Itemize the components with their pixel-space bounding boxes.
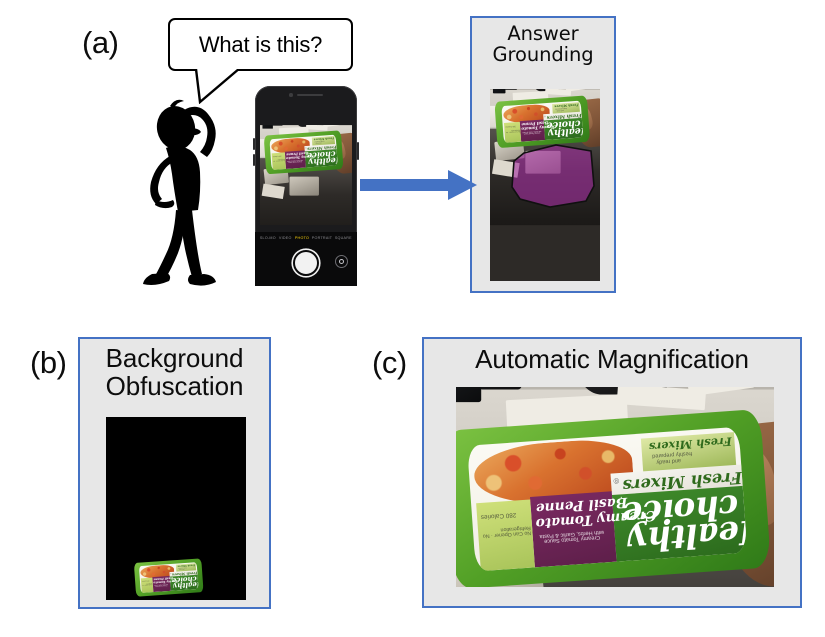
camera-viewfinder[interactable]: choiceHealthy.Fresh Mixers®Basil PenneCr… — [260, 125, 352, 225]
automatic-magnification-photo: choiceHealthy.Fresh Mixers®Basil PenneCr… — [456, 387, 774, 587]
panel-background-obfuscation-title-line2: Obfuscation — [80, 372, 269, 400]
side-panel-lime: 280 CaloriesNo Can Opener · No Refrigera… — [504, 122, 521, 143]
camera-mode-slo-mo[interactable]: SLO-MO — [260, 236, 276, 240]
background-obfuscation-scene: choiceHealthy.Fresh Mixers®Basil PenneCr… — [106, 417, 246, 600]
no-refrigeration-text: No Can Opener · No Refrigeration — [142, 583, 153, 586]
phone-earpiece-area — [255, 86, 357, 104]
healthy-choice-fresh-mixers-package: choiceHealthy.Fresh Mixers®Basil PenneCr… — [494, 95, 590, 148]
calories-text: 280 Calories — [273, 155, 282, 157]
camera-mode-photo[interactable]: PHOTO — [295, 236, 309, 240]
flavor-label-purple: Basil PenneCreamy TomatoCreamy Tomato Sa… — [520, 119, 545, 141]
flavor-label-purple: Basil PenneCreamy TomatoCreamy Tomato Sa… — [152, 576, 170, 592]
healthy-choice-fresh-mixers-package: choiceHealthy.Fresh Mixers®Basil PenneCr… — [264, 130, 344, 174]
no-refrigeration-text: No Can Opener · No Refrigeration — [480, 524, 531, 538]
flavor-label-purple: Basil PenneCreamy TomatoCreamy Tomato Sa… — [285, 150, 306, 169]
healthy-choice-fresh-mixers-package: choiceHealthy.Fresh Mixers®Basil PenneCr… — [134, 558, 204, 596]
automatic-magnification-scene: choiceHealthy.Fresh Mixers®Basil PenneCr… — [456, 387, 774, 587]
smartphone-camera-mockup[interactable]: choiceHealthy.Fresh Mixers®Basil PenneCr… — [255, 86, 357, 286]
confused-person-silhouette — [118, 88, 253, 293]
camera-mode-portrait[interactable]: PORTRAIT — [312, 236, 333, 240]
flip-camera-button[interactable] — [335, 255, 348, 268]
sub-brand-registered-mark: ® — [170, 572, 171, 574]
lid-sub-brand-text: Fresh Mixers — [649, 434, 732, 451]
claim-text-and-ready: and ready — [656, 458, 681, 465]
flavor-description-text: Creamy Tomato Sauce with Herbs, Garlic &… — [154, 584, 168, 587]
answer-grounding-scene: choiceHealthy.Fresh Mixers®Basil PenneCr… — [490, 89, 600, 281]
answer-grounding-photo: choiceHealthy.Fresh Mixers®Basil PenneCr… — [490, 89, 600, 281]
panel-automatic-magnification-title: Automatic Magnification — [424, 345, 800, 373]
lid-claim-area: Fresh Mixersfreshly preparedand ready — [641, 432, 736, 471]
camera-mode-video[interactable]: VIDEO — [279, 236, 292, 240]
package-tray: choiceHealthy.Fresh Mixers®Basil PenneCr… — [467, 426, 748, 572]
panel-answer-grounding-title-line2: Grounding — [472, 44, 614, 65]
shutter-button[interactable] — [293, 250, 319, 276]
desktop-speaker — [272, 125, 282, 126]
desktop-speaker — [479, 387, 522, 390]
panel-automatic-magnification: Automatic Magnification choiceHealthy.Fr… — [422, 337, 802, 608]
lid-claim-area: Fresh Mixersfreshly preparedand ready — [176, 563, 196, 571]
side-panel-lime: 280 CaloriesNo Can Opener · No Refrigera… — [141, 578, 154, 593]
figure-label-b: (b) — [30, 345, 66, 381]
calories-text: 280 Calories — [142, 580, 150, 582]
no-refrigeration-text: No Can Opener · No Refrigeration — [273, 158, 285, 161]
claim-text-and-ready: and ready — [556, 110, 563, 112]
side-panel-lime: 280 CaloriesNo Can Opener · No Refrigera… — [476, 499, 535, 571]
lid-claim-area: Fresh Mixersfreshly preparedand ready — [552, 102, 580, 114]
claim-text-and-ready: and ready — [179, 569, 184, 571]
speech-bubble-tail — [178, 66, 248, 104]
figure-canvas: (a) What is this? — [0, 0, 825, 637]
sub-brand-registered-mark: ® — [544, 115, 546, 117]
package-tray: choiceHealthy.Fresh Mixers®Basil PenneCr… — [139, 562, 199, 593]
camera-mode-square[interactable]: SQUARE — [335, 236, 352, 240]
figure-label-a: (a) — [82, 25, 118, 61]
claim-text-and-ready: and ready — [315, 142, 321, 144]
calories-text: 280 Calories — [481, 510, 517, 519]
sub-brand-registered-mark: ® — [305, 146, 306, 148]
flavor-description-text: Creamy Tomato Sauce with Herbs, Garlic &… — [539, 529, 605, 545]
speech-bubble: What is this? — [168, 18, 353, 71]
panel-answer-grounding-title: Answer Grounding — [472, 23, 614, 65]
desktop-speaker — [505, 89, 518, 90]
camera-controls: SLO-MO VIDEO PHOTO PORTRAIT SQUARE — [255, 232, 357, 286]
volume-down-button[interactable] — [253, 154, 255, 166]
no-refrigeration-text: No Can Opener · No Refrigeration — [505, 129, 520, 133]
panel-answer-grounding-title-line1: Answer — [472, 23, 614, 44]
calories-text: 280 Calories — [505, 125, 515, 128]
speech-bubble-text: What is this? — [170, 20, 351, 69]
camera-mode-selector[interactable]: SLO-MO VIDEO PHOTO PORTRAIT SQUARE — [258, 236, 354, 240]
figure-label-c: (c) — [372, 345, 407, 381]
package-tray: choiceHealthy.Fresh Mixers®Basil PenneCr… — [501, 100, 583, 143]
earpiece-speaker — [297, 94, 323, 97]
panel-answer-grounding: Answer Grounding choiceHealthy.Fresh Mix… — [470, 16, 616, 293]
flavor-description-text: Creamy Tomato Sauce with Herbs, Garlic &… — [287, 160, 303, 164]
flavor-label-purple: Basil PenneCreamy TomatoCreamy Tomato Sa… — [530, 491, 617, 568]
volume-up-button[interactable] — [253, 138, 255, 150]
panel-background-obfuscation-title: Background Obfuscation — [80, 344, 269, 400]
panel-background-obfuscation: Background Obfuscation choiceHealthy.Fre… — [78, 337, 271, 609]
panel-background-obfuscation-title-line1: Background — [80, 344, 269, 372]
package-tray: choiceHealthy.Fresh Mixers®Basil PenneCr… — [269, 135, 338, 171]
front-camera-icon — [289, 93, 293, 97]
right-arrow-icon — [360, 168, 478, 202]
lid-claim-area: Fresh Mixersfreshly preparedand ready — [312, 136, 335, 146]
side-panel-lime: 280 CaloriesNo Can Opener · No Refrigera… — [272, 152, 286, 170]
healthy-choice-fresh-mixers-package: choiceHealthy.Fresh Mixers®Basil PenneCr… — [456, 409, 771, 587]
sub-brand-registered-mark: ® — [614, 475, 620, 483]
background-obfuscation-photo: choiceHealthy.Fresh Mixers®Basil PenneCr… — [106, 417, 246, 600]
viewfinder-scene: choiceHealthy.Fresh Mixers®Basil PenneCr… — [260, 125, 352, 225]
power-button[interactable] — [357, 142, 359, 160]
flavor-description-text: Creamy Tomato Sauce with Herbs, Garlic &… — [522, 130, 541, 135]
